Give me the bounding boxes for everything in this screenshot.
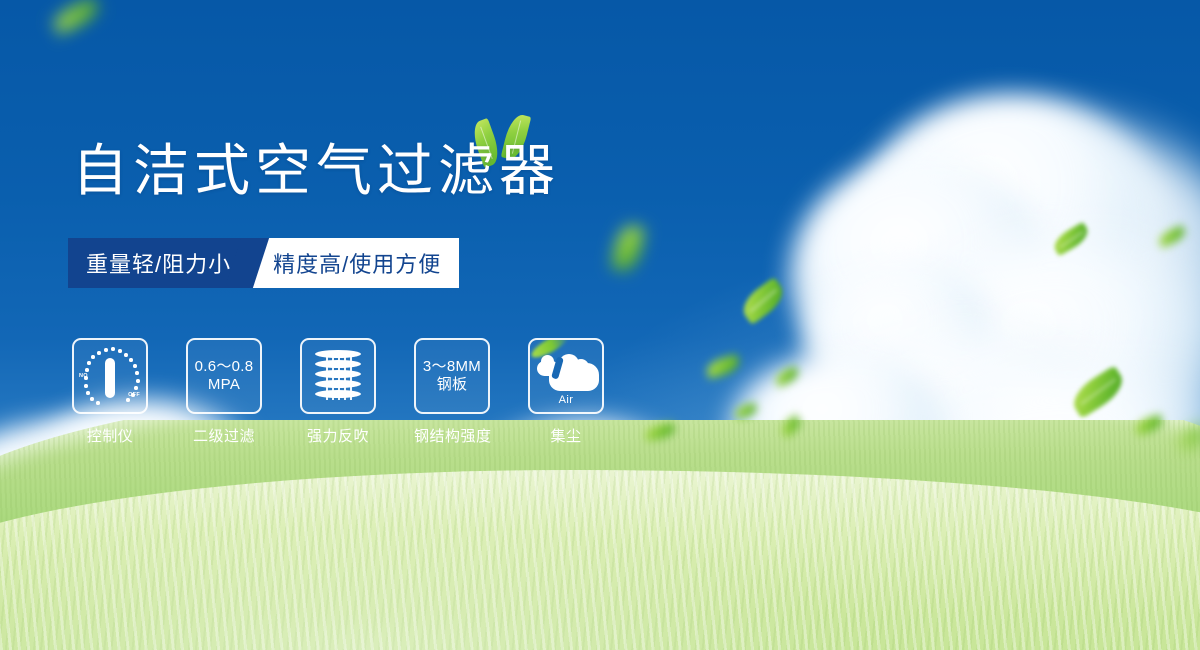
- feature-item-two-stage-filtration[interactable]: 0.6～0.8 MPA 二级过滤: [186, 338, 262, 446]
- subtitle-secondary: 精度高/使用方便: [247, 238, 459, 288]
- grass-hill-near: [0, 470, 1200, 650]
- dial-pointer: [105, 358, 115, 398]
- subtitle-bar: 重量轻/阻力小 精度高/使用方便: [68, 238, 459, 288]
- feature-icon-box: 3～8MM 钢板: [414, 338, 490, 414]
- feature-item-steel-strength[interactable]: 3～8MM 钢板 钢结构强度: [414, 338, 490, 446]
- pressure-unit: MPA: [195, 376, 254, 394]
- feature-list: NO OFF 控制仪 0.6～0.8 MPA 二级过滤: [72, 338, 604, 446]
- feature-item-control-instrument[interactable]: NO OFF 控制仪: [72, 338, 148, 446]
- product-banner: 自洁式空气过滤器 重量轻/阻力小 精度高/使用方便: [0, 0, 1200, 650]
- filter-cartridge-icon: [315, 348, 361, 404]
- feature-icon-box: 0.6～0.8 MPA: [186, 338, 262, 414]
- feature-item-strong-blowback[interactable]: 强力反吹: [300, 338, 376, 446]
- feature-caption: 二级过滤: [186, 425, 262, 446]
- steel-thickness-value: 3～8MM: [423, 358, 481, 376]
- feature-caption: 集尘: [528, 425, 604, 446]
- air-label: Air: [535, 394, 597, 406]
- air-cloud-icon: Air: [535, 347, 597, 405]
- control-dial-icon: NO OFF: [78, 345, 142, 407]
- grass-field: [0, 420, 1200, 650]
- feature-icon-box: Air: [528, 338, 604, 414]
- pressure-range-value: 0.6～0.8: [195, 358, 254, 376]
- steel-plate-text-icon: 3～8MM 钢板: [423, 358, 481, 395]
- feature-item-dust-collection[interactable]: Air 集尘: [528, 338, 604, 446]
- feature-icon-box: NO OFF: [72, 338, 148, 414]
- feature-icon-box: [300, 338, 376, 414]
- subtitle-primary: 重量轻/阻力小: [68, 238, 247, 288]
- page-title: 自洁式空气过滤器: [72, 143, 560, 199]
- cloud-main-bump-2: [573, 359, 589, 375]
- dial-label-off: OFF: [128, 392, 140, 398]
- pressure-text-icon: 0.6～0.8 MPA: [195, 358, 254, 395]
- feature-caption: 强力反吹: [300, 425, 376, 446]
- steel-plate-label: 钢板: [423, 376, 481, 394]
- feature-caption: 控制仪: [72, 425, 148, 446]
- feature-caption: 钢结构强度: [414, 425, 490, 446]
- dial-label-on: NO: [79, 373, 88, 379]
